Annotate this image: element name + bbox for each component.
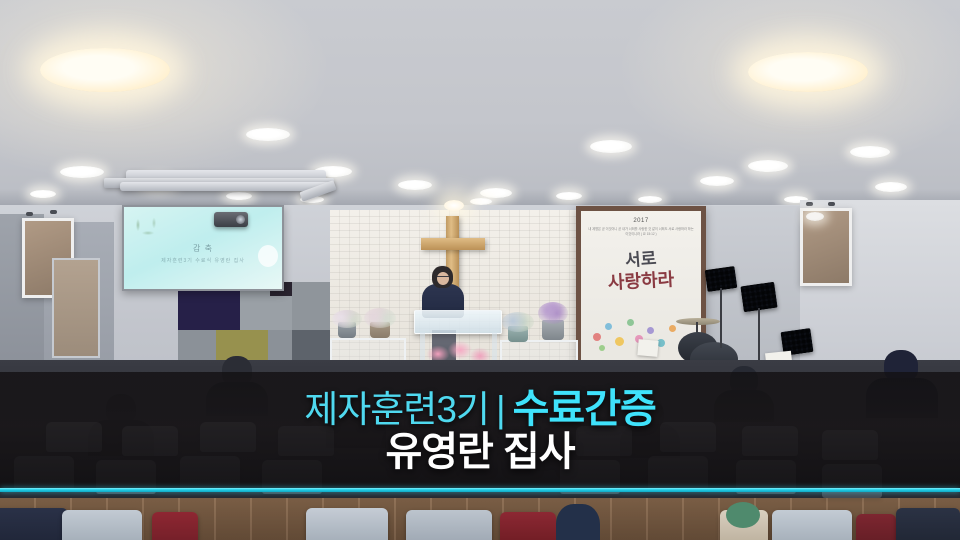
program-name: 제자훈련3기 bbox=[304, 391, 489, 428]
ceiling-light bbox=[590, 140, 632, 153]
ceiling-light bbox=[556, 192, 582, 200]
ceiling-light bbox=[638, 196, 662, 203]
ceiling-light bbox=[30, 190, 56, 198]
ceiling-light bbox=[246, 128, 290, 141]
wall-tile bbox=[292, 282, 330, 330]
ceiling-light bbox=[875, 182, 907, 192]
speaker-name: 유영란 집사 bbox=[385, 432, 574, 472]
front-chair bbox=[772, 510, 852, 540]
banner-verse: 내 계명은 곧 이것이니 곧 내가 너희를 사랑한 것 같이 너희도 서로 사랑… bbox=[587, 227, 695, 237]
ceiling-light bbox=[226, 192, 252, 200]
banner-year: 2017 bbox=[581, 218, 701, 224]
ceiling-light bbox=[748, 160, 788, 172]
ceiling-light bbox=[480, 188, 512, 198]
ceiling-light bbox=[470, 198, 492, 205]
front-chair bbox=[152, 512, 198, 540]
lower-third-text: 제자훈련3기 | 수료간증 유영란 집사 bbox=[0, 372, 960, 488]
speaker-glasses-icon bbox=[437, 276, 449, 280]
picture-light-icon bbox=[50, 210, 57, 214]
picture-light-icon bbox=[806, 202, 813, 206]
ceiling-rail-box bbox=[120, 182, 330, 191]
front-chair bbox=[0, 508, 68, 540]
front-chair bbox=[406, 510, 492, 540]
ceiling-light bbox=[60, 166, 104, 178]
sheet-music bbox=[637, 339, 658, 357]
flower-bouquet bbox=[364, 308, 396, 328]
screen-subtitle: 제자훈련3기 수료식 유영란 집사 bbox=[124, 258, 282, 265]
banner-calligraphy: 서로 사랑하라 bbox=[581, 245, 701, 293]
title-line-1: 제자훈련3기 | 수료간증 bbox=[304, 389, 656, 429]
cross-spotlight bbox=[444, 200, 464, 211]
front-chair bbox=[306, 508, 388, 540]
accent-divider-line bbox=[0, 488, 960, 492]
spot-light bbox=[806, 212, 824, 221]
ceiling-light bbox=[850, 146, 890, 158]
projector bbox=[214, 212, 248, 227]
cymbal bbox=[676, 318, 720, 325]
front-chair bbox=[856, 514, 896, 540]
picture-light-icon bbox=[26, 212, 33, 216]
banner-calligraphy-line2: 사랑하라 bbox=[581, 264, 701, 296]
picture-light-icon bbox=[828, 202, 835, 206]
segment-title: 수료간증 bbox=[513, 389, 656, 429]
music-stand-pole bbox=[720, 288, 722, 348]
tulip-bouquet bbox=[538, 302, 568, 324]
video-frame: 감 축 제자훈련3기 수료식 유영란 집사 2017 내 계명은 곧 이것이니 … bbox=[0, 0, 960, 540]
wall-board-left bbox=[52, 258, 100, 358]
front-attendee bbox=[556, 504, 600, 540]
front-attendee bbox=[726, 502, 760, 528]
ceiling-light bbox=[398, 180, 432, 190]
front-chair bbox=[896, 508, 960, 540]
wooden-cross-arm bbox=[421, 238, 485, 250]
flower-bouquet bbox=[332, 310, 362, 328]
music-stand-pole bbox=[758, 308, 760, 364]
front-chair bbox=[62, 510, 142, 540]
flower-bouquet bbox=[502, 312, 534, 332]
ceiling-light-large-left bbox=[40, 48, 170, 92]
projection-screen: 감 축 제자훈련3기 수료식 유영란 집사 bbox=[122, 205, 284, 291]
screen-leaf-graphic bbox=[130, 215, 164, 245]
screen-title: 감 축 bbox=[124, 243, 282, 254]
acrylic-pulpit bbox=[414, 310, 502, 334]
ceiling-light bbox=[700, 176, 734, 186]
title-separator: | bbox=[489, 391, 513, 428]
ceiling-light-large-right bbox=[748, 52, 868, 92]
front-chair bbox=[500, 512, 556, 540]
